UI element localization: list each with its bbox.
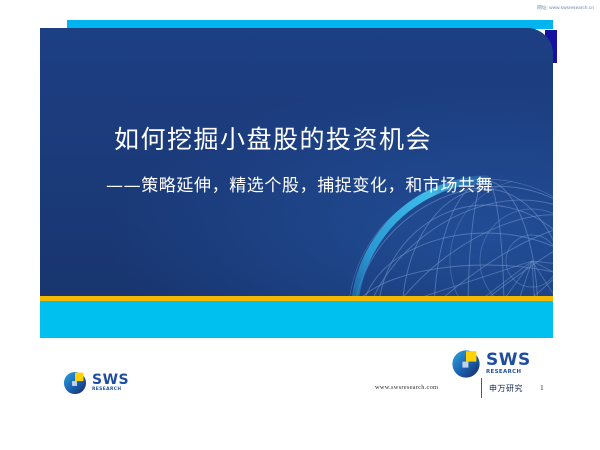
sws-circle-logo-icon xyxy=(62,370,88,396)
slide-canvas: 网址: www.swsresearch.cn xyxy=(0,0,600,450)
footer-divider xyxy=(481,378,482,398)
footer-website-url[interactable]: www.swsresearch.com xyxy=(375,384,438,391)
brand-tagline: RESEARCH xyxy=(486,370,531,375)
sws-circle-logo-icon xyxy=(450,348,482,380)
footer-department-name: 申万研究 xyxy=(489,383,523,394)
brand-logo-bottom-right: SWS RESEARCH xyxy=(450,348,531,380)
brand-logo-bottom-left: SWS RESEARCH xyxy=(62,370,129,396)
brand-logo-text: SWS RESEARCH xyxy=(486,352,531,375)
footer-page-number: 1 xyxy=(540,383,544,392)
title-panel: 如何挖掘小盘股的投资机会 ——策略延伸，精选个股，捕捉变化，和市场共舞 xyxy=(40,28,553,296)
brand-name: SWS xyxy=(486,352,531,369)
brand-tagline: RESEARCH xyxy=(92,388,129,392)
slide-subtitle: ——策略延伸，精选个股，捕捉变化，和市场共舞 xyxy=(106,176,493,196)
top-right-website-note: 网址: www.swsresearch.cn xyxy=(537,6,594,11)
brand-name: SWS xyxy=(92,373,129,387)
panel-background-gradient xyxy=(40,28,553,296)
slide-title: 如何挖掘小盘股的投资机会 xyxy=(114,126,432,155)
cyan-footer-block xyxy=(40,301,553,338)
brand-logo-text: SWS RESEARCH xyxy=(92,373,129,392)
